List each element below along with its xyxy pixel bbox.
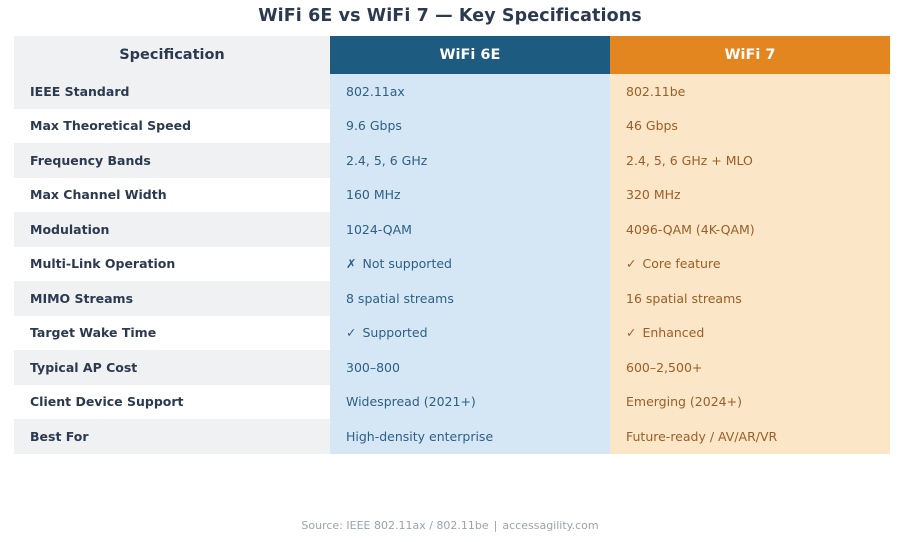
cell-wifi6e: 9.6 Gbps bbox=[330, 109, 610, 144]
cell-wifi6e: Widespread (2021+) bbox=[330, 385, 610, 420]
cell-wifi6e: 300–800 bbox=[330, 350, 610, 385]
column-header-wifi6e: WiFi 6E bbox=[330, 36, 610, 74]
column-header-wifi7: WiFi 7 bbox=[610, 36, 890, 74]
cell-wifi7: 16 spatial streams bbox=[610, 281, 890, 316]
table-header: Specification WiFi 6E WiFi 7 bbox=[14, 36, 890, 74]
cell-wifi6e-text: 1024-QAM bbox=[346, 222, 412, 237]
cell-wifi6e-text: Widespread (2021+) bbox=[346, 394, 476, 409]
table-row: Max Channel Width160 MHz320 MHz bbox=[14, 178, 890, 213]
cell-wifi6e-text: 9.6 Gbps bbox=[346, 118, 402, 133]
cell-wifi6e-text: Supported bbox=[362, 325, 427, 340]
footer-source: Source: IEEE 802.11ax / 802.11be bbox=[301, 519, 488, 532]
table-row: Typical AP Cost300–800600–2,500+ bbox=[14, 350, 890, 385]
cell-specification: Multi-Link Operation bbox=[14, 247, 330, 282]
cell-wifi7: Future-ready / AV/AR/VR bbox=[610, 419, 890, 454]
cell-wifi7-text: 46 Gbps bbox=[626, 118, 678, 133]
table-row: Modulation1024-QAM4096-QAM (4K-QAM) bbox=[14, 212, 890, 247]
spec-comparison-table: Specification WiFi 6E WiFi 7 IEEE Standa… bbox=[14, 36, 890, 454]
table-row: Multi-Link Operation✗Not supported✓Core … bbox=[14, 247, 890, 282]
cell-wifi7: 802.11be bbox=[610, 74, 890, 109]
cell-specification: Target Wake Time bbox=[14, 316, 330, 351]
cell-wifi6e: 802.11ax bbox=[330, 74, 610, 109]
comparison-table-page: WiFi 6E vs WiFi 7 — Key Specifications S… bbox=[0, 0, 900, 542]
cell-wifi7-text: 2.4, 5, 6 GHz + MLO bbox=[626, 153, 753, 168]
cell-specification: Max Theoretical Speed bbox=[14, 109, 330, 144]
table-row: Target Wake Time✓Supported✓Enhanced bbox=[14, 316, 890, 351]
cell-wifi6e: High-density enterprise bbox=[330, 419, 610, 454]
cell-wifi7: 4096-QAM (4K-QAM) bbox=[610, 212, 890, 247]
cell-wifi7-text: 4096-QAM (4K-QAM) bbox=[626, 222, 755, 237]
cell-wifi7-text: 600–2,500+ bbox=[626, 360, 702, 375]
table-row: Best ForHigh-density enterpriseFuture-re… bbox=[14, 419, 890, 454]
cell-wifi6e: 2.4, 5, 6 GHz bbox=[330, 143, 610, 178]
column-header-specification: Specification bbox=[14, 36, 330, 74]
table-row: MIMO Streams8 spatial streams16 spatial … bbox=[14, 281, 890, 316]
table-row: Client Device SupportWidespread (2021+)E… bbox=[14, 385, 890, 420]
cell-wifi6e: 1024-QAM bbox=[330, 212, 610, 247]
cell-wifi7: 600–2,500+ bbox=[610, 350, 890, 385]
cell-specification: Best For bbox=[14, 419, 330, 454]
footer-separator: | bbox=[489, 519, 503, 532]
cell-wifi7-text: Future-ready / AV/AR/VR bbox=[626, 429, 777, 444]
cell-specification: Frequency Bands bbox=[14, 143, 330, 178]
footer-attribution: accessagility.com bbox=[502, 519, 598, 532]
cell-wifi6e: 160 MHz bbox=[330, 178, 610, 213]
table-row: IEEE Standard802.11ax802.11be bbox=[14, 74, 890, 109]
cell-wifi7-text: 320 MHz bbox=[626, 187, 681, 202]
cell-wifi6e: 8 spatial streams bbox=[330, 281, 610, 316]
cell-wifi7: ✓Enhanced bbox=[610, 316, 890, 351]
cell-wifi6e: ✓Supported bbox=[330, 316, 610, 351]
table-row: Max Theoretical Speed9.6 Gbps46 Gbps bbox=[14, 109, 890, 144]
cell-wifi7-text: 16 spatial streams bbox=[626, 291, 742, 306]
cell-wifi7: 46 Gbps bbox=[610, 109, 890, 144]
cell-wifi6e: ✗Not supported bbox=[330, 247, 610, 282]
cell-wifi6e-text: Not supported bbox=[362, 256, 452, 271]
cell-wifi7: 2.4, 5, 6 GHz + MLO bbox=[610, 143, 890, 178]
cell-wifi7: ✓Core feature bbox=[610, 247, 890, 282]
cross-icon: ✗ bbox=[346, 256, 356, 271]
check-icon: ✓ bbox=[626, 256, 636, 271]
cell-specification: Typical AP Cost bbox=[14, 350, 330, 385]
cell-wifi6e-text: 160 MHz bbox=[346, 187, 401, 202]
cell-specification: MIMO Streams bbox=[14, 281, 330, 316]
cell-specification: Max Channel Width bbox=[14, 178, 330, 213]
table-row: Frequency Bands2.4, 5, 6 GHz2.4, 5, 6 GH… bbox=[14, 143, 890, 178]
cell-specification: Modulation bbox=[14, 212, 330, 247]
header-row: Specification WiFi 6E WiFi 7 bbox=[14, 36, 890, 74]
cell-wifi7: Emerging (2024+) bbox=[610, 385, 890, 420]
cell-wifi6e-text: High-density enterprise bbox=[346, 429, 493, 444]
cell-wifi6e-text: 2.4, 5, 6 GHz bbox=[346, 153, 427, 168]
page-title: WiFi 6E vs WiFi 7 — Key Specifications bbox=[0, 6, 900, 26]
cell-wifi7-text: Core feature bbox=[642, 256, 720, 271]
table-body: IEEE Standard802.11ax802.11beMax Theoret… bbox=[14, 74, 890, 454]
cell-wifi6e-text: 802.11ax bbox=[346, 84, 405, 99]
cell-wifi6e-text: 300–800 bbox=[346, 360, 400, 375]
cell-wifi7-text: Emerging (2024+) bbox=[626, 394, 742, 409]
cell-wifi6e-text: 8 spatial streams bbox=[346, 291, 454, 306]
footer-note: Source: IEEE 802.11ax / 802.11be|accessa… bbox=[0, 519, 900, 532]
cell-specification: IEEE Standard bbox=[14, 74, 330, 109]
cell-wifi7-text: Enhanced bbox=[642, 325, 704, 340]
check-icon: ✓ bbox=[346, 325, 356, 340]
cell-wifi7-text: 802.11be bbox=[626, 84, 685, 99]
spec-table-container: Specification WiFi 6E WiFi 7 IEEE Standa… bbox=[14, 36, 890, 454]
check-icon: ✓ bbox=[626, 325, 636, 340]
cell-wifi7: 320 MHz bbox=[610, 178, 890, 213]
cell-specification: Client Device Support bbox=[14, 385, 330, 420]
